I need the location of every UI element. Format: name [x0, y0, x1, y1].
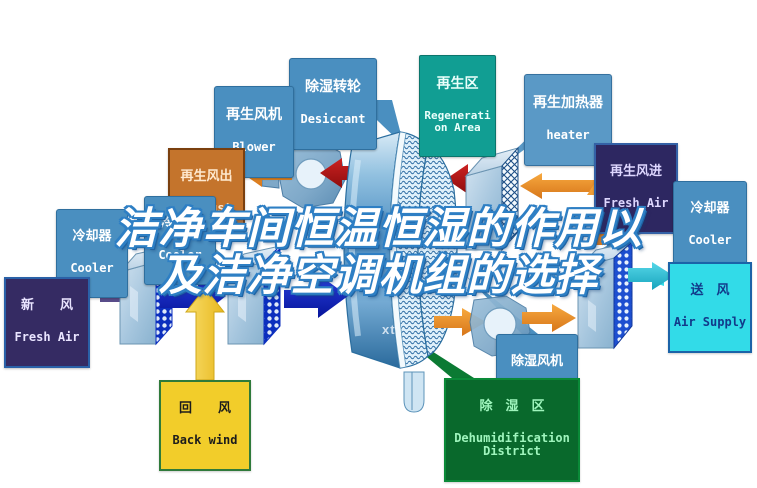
label-back-wind: 回 风 Back wind — [159, 380, 251, 471]
label-regeneration-area-cn: 再生区 — [422, 77, 493, 93]
label-dehumidification-blower-cn: 除湿风机 — [499, 355, 575, 370]
supply-filter — [578, 242, 632, 348]
label-dehumidification-district: 除 湿 区 Dehumidification District — [444, 378, 580, 482]
label-desiccant-wheel: 除湿转轮 Desiccant — [289, 58, 377, 150]
label-cooler-left-1-en: Cooler — [59, 262, 125, 275]
label-dehumidification-district-en: Dehumidification District — [448, 432, 576, 458]
drain-pan — [404, 372, 424, 412]
label-cooler-right-en: Cooler — [676, 234, 744, 247]
desiccant-rotor — [344, 132, 457, 368]
label-cooler-left-2-en: Cooler — [147, 249, 213, 262]
cooler-coil-2 — [228, 246, 280, 344]
label-cooler-right: 冷却器 Cooler — [673, 181, 747, 270]
label-back-wind-cn: 回 风 — [163, 402, 247, 417]
label-air-supply-en: Air Supply — [672, 316, 748, 329]
label-regeneration-area: 再生区 Regenerati on Area — [419, 55, 496, 157]
label-regeneration-fresh-air-cn: 再生风进 — [598, 165, 674, 180]
label-cooler-left-2: 冷却器 Cooler — [144, 196, 216, 285]
label-regeneration-heater-en: heater — [527, 129, 609, 142]
label-regeneration-area-en: Regenerati on Area — [422, 110, 493, 134]
label-regeneration-fresh-air: 再生风进 Fresh Air — [594, 143, 678, 234]
regen-fresh-air-arrow — [520, 173, 600, 199]
label-desiccant-wheel-cn: 除湿转轮 — [292, 80, 374, 96]
label-fresh-air: 新 风 Fresh Air — [4, 277, 90, 368]
label-air-supply-cn: 送 风 — [672, 284, 748, 299]
label-regeneration-heater-cn: 再生加热器 — [527, 96, 609, 112]
label-cooler-left-1-cn: 冷却器 — [59, 230, 125, 245]
label-dehumidification-district-cn: 除 湿 区 — [448, 400, 576, 415]
label-regeneration-blower-cn: 再生风机 — [217, 108, 291, 124]
artwork-watermark: xt — [382, 322, 396, 337]
label-fresh-air-cn: 新 风 — [8, 299, 86, 314]
label-cooler-right-cn: 冷却器 — [676, 202, 744, 217]
label-air-supply: 送 风 Air Supply — [668, 262, 752, 353]
regeneration-heater-unit — [466, 148, 518, 250]
label-regeneration-fresh-air-en: Fresh Air — [598, 197, 674, 210]
label-cooler-left-2-cn: 冷却器 — [147, 217, 213, 232]
label-desiccant-wheel-en: Desiccant — [292, 113, 374, 126]
process-arrow-2 — [284, 274, 348, 318]
diagram-canvas: xt 除湿转轮 Desiccant 再生风机 Blower 再生区 Regene… — [0, 0, 757, 488]
label-fresh-air-en: Fresh Air — [8, 331, 86, 344]
label-exhaust-cn: 再生风出 — [172, 170, 241, 185]
label-back-wind-en: Back wind — [163, 434, 247, 447]
